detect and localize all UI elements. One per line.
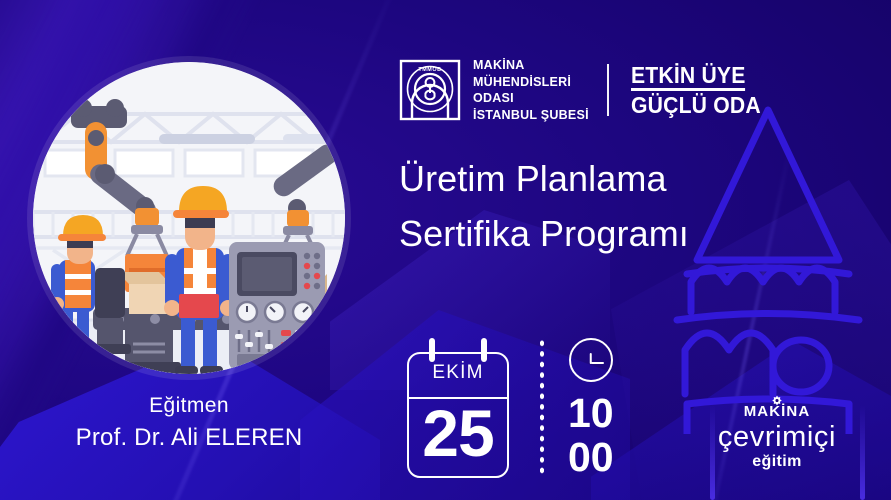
schedule-block: EKİM 25 10 00 [404, 336, 614, 480]
page-title: Üretim Planlama Sertifika Programı [399, 152, 689, 261]
dotted-divider [538, 338, 546, 478]
tmmob-emblem-icon: TMMOB [399, 59, 461, 121]
event-time-hour: 10 [568, 392, 614, 436]
slogan-block: ETKİN ÜYE GÜÇLÜ ODA [631, 63, 772, 118]
slogan-line-2: GÜÇLÜ ODA [631, 93, 761, 117]
instructor-block: Eğitmen Prof. Dr. Ali ELEREN [0, 393, 378, 453]
brand-line-3: eğitim [697, 454, 857, 470]
background-pillar-right [860, 405, 865, 500]
factory-illustration-svg [33, 62, 345, 374]
clock-icon [569, 338, 613, 382]
page-title-line-1: Üretim Planlama [399, 152, 689, 207]
organization-name-line-3: ODASI [473, 90, 589, 107]
organization-name-line-2: MÜHENDİSLERİ [473, 74, 589, 91]
slogan-line-1: ETKİN ÜYE [631, 63, 746, 91]
time-block: 10 00 [568, 336, 614, 480]
factory-illustration [33, 62, 345, 374]
calendar-icon: EKİM 25 [404, 338, 512, 478]
organization-name: MAKİNA MÜHENDİSLERİ ODASI İSTANBUL ŞUBES… [473, 57, 589, 123]
organization-name-line-4: İSTANBUL ŞUBESİ [473, 107, 589, 124]
gear-icon [772, 395, 783, 406]
organization-name-line-1: MAKİNA [473, 57, 589, 74]
instructor-name: Prof. Dr. Ali ELEREN [0, 422, 378, 453]
svg-text:TMMOB: TMMOB [418, 67, 441, 73]
brand-line-1: MAKİNA [744, 404, 811, 419]
online-training-brand: MAKİNA çevrimiçi eğitim [697, 403, 857, 470]
instructor-role-label: Eğitmen [0, 393, 378, 419]
event-time-minute: 00 [568, 436, 614, 480]
page-title-line-2: Sertifika Programı [399, 207, 689, 262]
poster-canvas: Eğitmen Prof. Dr. Ali ELEREN TMMOB MAKİN… [0, 0, 891, 500]
clock-minute-hand [591, 362, 604, 365]
header-divider [607, 64, 609, 116]
brand-line-2: çevrimiçi [697, 422, 857, 453]
organization-header: TMMOB MAKİNA MÜHENDİSLERİ ODASI İSTANBUL… [399, 57, 772, 123]
event-month: EKİM [404, 362, 512, 384]
event-day: 25 [404, 400, 512, 467]
